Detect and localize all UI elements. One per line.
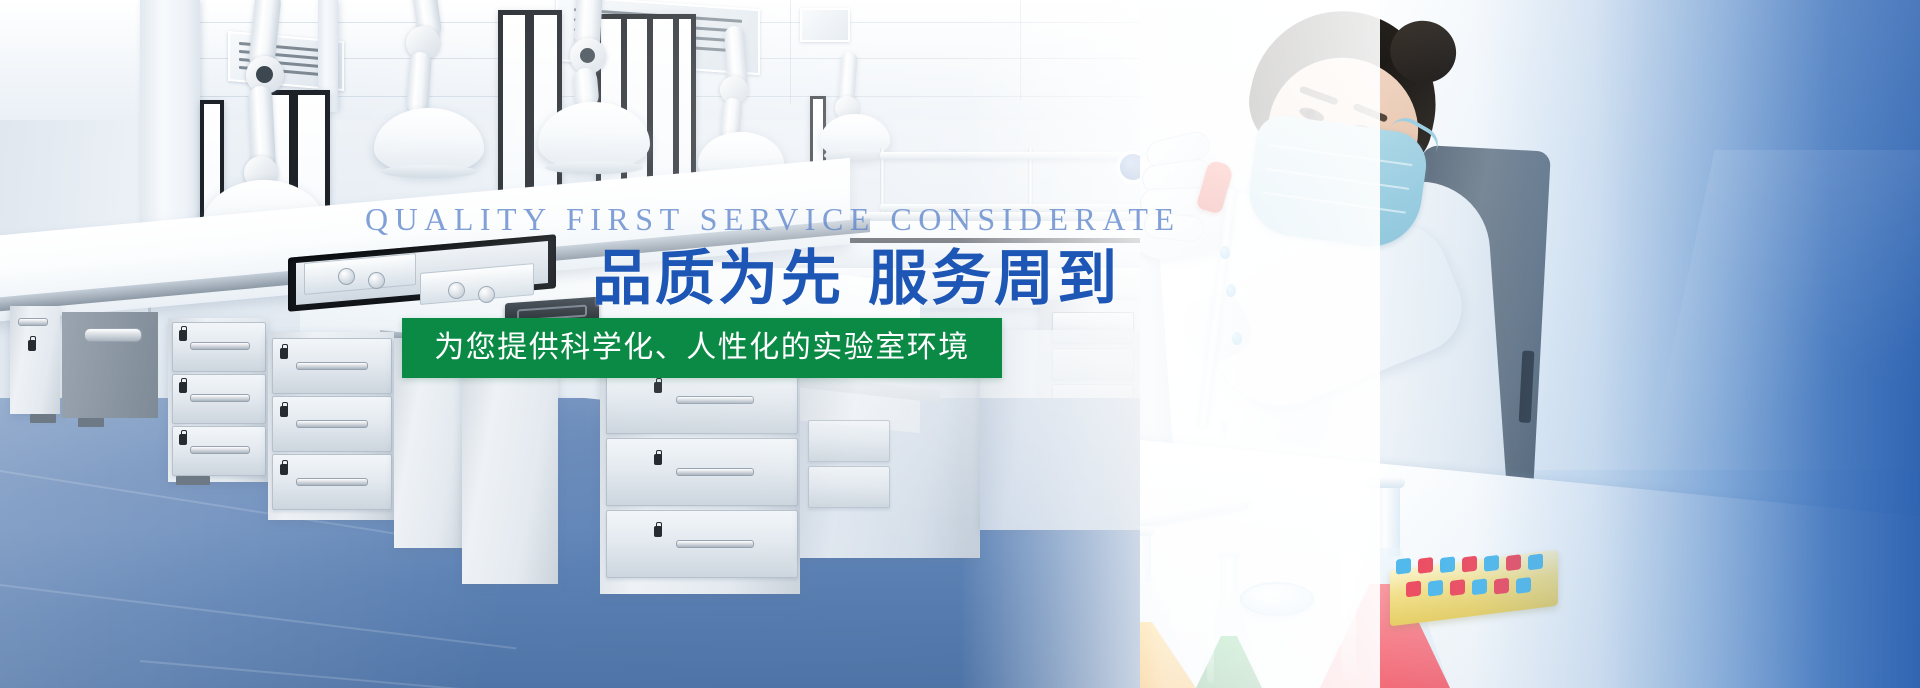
headline-part-2: 服务周到 [868, 244, 1120, 314]
english-tagline: QUALITY FIRST SERVICE CONSIDERATE [365, 202, 1181, 236]
banner-copy: QUALITY FIRST SERVICE CONSIDERATE 品质为先服务… [0, 0, 1920, 688]
headline-part-1: 品质为先 [592, 244, 844, 314]
subtitle-text: 为您提供科学化、人性化的实验室环境 [434, 332, 970, 364]
subtitle-green-bar: 为您提供科学化、人性化的实验室环境 [402, 318, 1002, 378]
headline: 品质为先服务周到 [592, 247, 1120, 311]
hero-banner: QUALITY FIRST SERVICE CONSIDERATE 品质为先服务… [0, 0, 1920, 688]
